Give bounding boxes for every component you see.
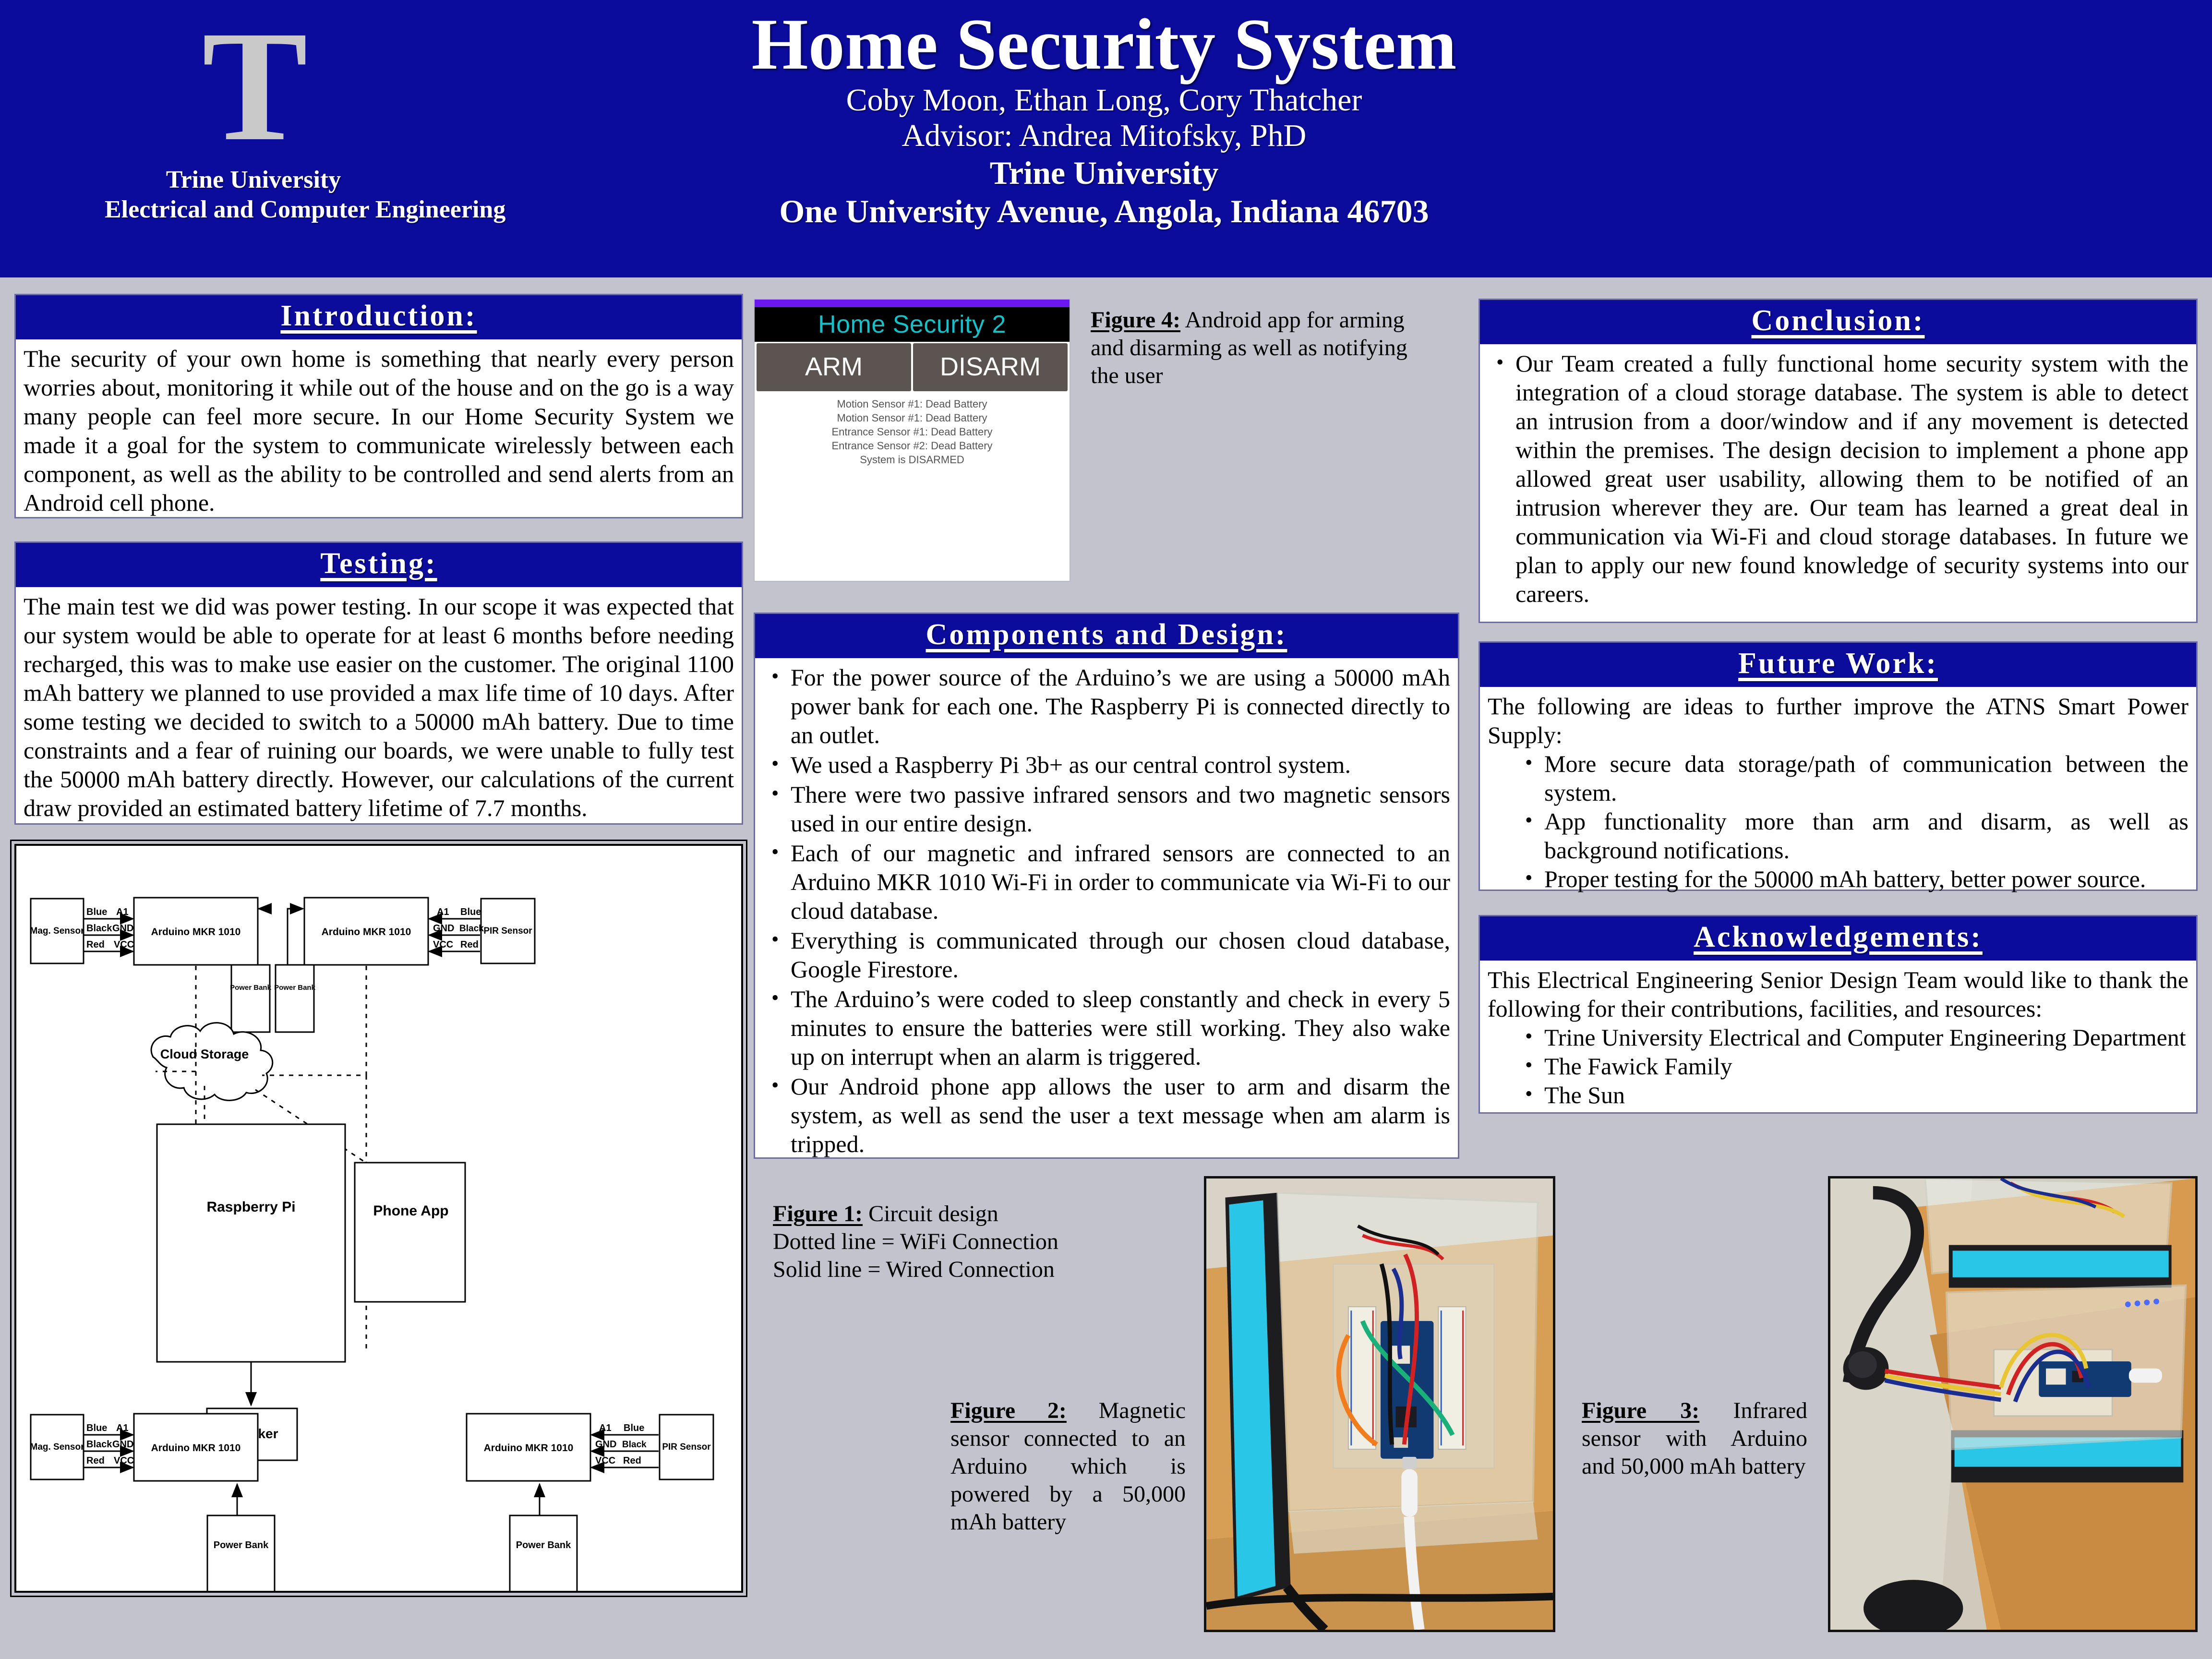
figure-3-caption: Figure 3: Infrared sensor with Arduino a… xyxy=(1582,1397,1807,1480)
advisor-line: Advisor: Andrea Mitofsky, PhD xyxy=(624,118,1584,154)
diagram-wire-blue-tl: Blue xyxy=(86,907,107,917)
figure-1-text: Circuit design xyxy=(863,1201,998,1226)
list-item: More secure data storage/path of communi… xyxy=(1544,749,2188,807)
university-line: Trine University xyxy=(624,154,1584,192)
diagram-label-arduino-tl: Arduino MKR 1010 xyxy=(151,926,241,938)
components-panel: Components and Design: For the power sou… xyxy=(754,613,1459,1159)
list-item: The Fawick Family xyxy=(1544,1052,2188,1081)
figure-1-caption: Figure 1: Circuit design Dotted line = W… xyxy=(773,1200,1109,1284)
diagram-pin-gnd-br: GND xyxy=(595,1439,616,1450)
figure-1-legend-solid: Solid line = Wired Connection xyxy=(773,1256,1109,1284)
address-line: One University Avenue, Angola, Indiana 4… xyxy=(624,192,1584,230)
introduction-panel: Introduction: The security of your own h… xyxy=(14,294,743,518)
components-heading: Components and Design: xyxy=(755,614,1458,658)
future-work-bullet-list: More secure data storage/path of communi… xyxy=(1488,749,2188,893)
diagram-label-mag-sensor-tl: Mag. Sensor xyxy=(30,926,85,936)
list-item: Proper testing for the 50000 mAh battery… xyxy=(1544,865,2188,893)
components-heading-text: Components and Design: xyxy=(926,618,1287,651)
figure-3-photo xyxy=(1828,1176,2198,1632)
conclusion-heading: Conclusion: xyxy=(1480,300,2196,344)
diagram-label-pir-sensor-tr: PIR Sensor xyxy=(483,926,532,936)
diagram-label-arduino-tr: Arduino MKR 1010 xyxy=(322,926,411,938)
conclusion-body: Our Team created a fully functional home… xyxy=(1480,344,2196,616)
testing-body: The main test we did was power testing. … xyxy=(16,587,742,829)
app-title-bar: Home Security 2 xyxy=(755,307,1070,342)
testing-heading: Testing: xyxy=(16,543,742,587)
diagram-label-power-bank-4: Power Bank xyxy=(516,1540,571,1551)
diagram-wire-red-tr: Red xyxy=(460,939,479,950)
testing-paragraph: The main test we did was power testing. … xyxy=(24,592,734,822)
list-item: The Sun xyxy=(1544,1081,2188,1109)
figure-3-label: Figure 3: xyxy=(1582,1398,1699,1423)
future-work-heading-text: Future Work: xyxy=(1738,647,1938,680)
page-title: Home Security System xyxy=(624,6,1584,83)
diagram-pin-vcc-br: VCC xyxy=(595,1455,615,1466)
status-line: Entrance Sensor #1: Dead Battery xyxy=(755,425,1070,439)
diagram-label-pir-sensor-br: PIR Sensor xyxy=(662,1442,711,1452)
list-item: Our Android phone app allows the user to… xyxy=(791,1072,1450,1158)
diagram-label-power-bank-1: Power Bank xyxy=(230,984,272,992)
figure-4-caption: Figure 4: Android app for arming and dis… xyxy=(1091,306,1407,390)
logo-department-name: Electrical and Computer Engineering xyxy=(105,195,402,225)
diagram-wire-red-tl: Red xyxy=(86,939,105,950)
logo-university-name: Trine University xyxy=(105,165,402,195)
figure-1-legend-dotted: Dotted line = WiFi Connection xyxy=(773,1228,1109,1256)
diagram-pin-gnd-tl: GND xyxy=(112,923,133,934)
future-work-body: The following are ideas to further impro… xyxy=(1480,687,2196,900)
diagram-pin-gnd-bl: GND xyxy=(112,1439,133,1450)
list-item: Trine University Electrical and Computer… xyxy=(1544,1023,2188,1052)
list-item: For the power source of the Arduino’s we… xyxy=(791,663,1450,749)
diagram-label-mag-sensor-bl: Mag. Sensor xyxy=(30,1442,85,1452)
list-item: The Arduino’s were coded to sleep consta… xyxy=(791,985,1450,1071)
app-button-row: ARM DISARM xyxy=(755,342,1070,391)
figure-2-photo-inner xyxy=(1206,1178,1553,1630)
future-work-intro: The following are ideas to further impro… xyxy=(1488,692,2188,749)
diagram-pin-a1-tl: A1 xyxy=(116,907,129,917)
acknowledgements-heading-text: Acknowledgements: xyxy=(1694,921,1983,953)
diagram-wire-red-br: Red xyxy=(623,1455,641,1466)
introduction-heading-text: Introduction: xyxy=(280,300,477,332)
figure-2-caption: Figure 2: Magnetic sensor connected to a… xyxy=(950,1397,1186,1536)
acknowledgements-intro: This Electrical Engineering Senior Desig… xyxy=(1488,965,2188,1023)
diagram-wire-blue-bl: Blue xyxy=(86,1423,107,1433)
diagram-label-raspberry-pi: Raspberry Pi xyxy=(206,1199,295,1215)
components-bullet-list: For the power source of the Arduino’s we… xyxy=(763,663,1450,1158)
university-logo-block: T Trine University Electrical and Comput… xyxy=(105,14,402,225)
future-work-panel: Future Work: The following are ideas to … xyxy=(1479,641,2198,891)
components-body: For the power source of the Arduino’s we… xyxy=(755,658,1458,1166)
status-line: System is DISARMED xyxy=(755,453,1070,467)
app-status-bar xyxy=(755,300,1070,307)
authors-line: Coby Moon, Ethan Long, Cory Thatcher xyxy=(624,83,1584,118)
diagram-pin-a1-tr: A1 xyxy=(437,907,449,917)
diagram-wire-blue-br: Blue xyxy=(624,1423,644,1433)
arm-button[interactable]: ARM xyxy=(757,343,911,391)
figure-2-label: Figure 2: xyxy=(950,1398,1067,1423)
testing-panel: Testing: The main test we did was power … xyxy=(14,541,743,825)
acknowledgements-heading: Acknowledgements: xyxy=(1480,916,2196,961)
diagram-wire-black-br: Black xyxy=(622,1440,647,1450)
list-item: Everything is communicated through our c… xyxy=(791,926,1450,984)
future-work-heading: Future Work: xyxy=(1480,643,2196,687)
diagram-wire-blue-tr: Blue xyxy=(460,907,481,917)
diagram-label-cloud-storage: Cloud Storage xyxy=(160,1047,249,1061)
list-item: Each of our magnetic and infrared sensor… xyxy=(791,839,1450,925)
diagram-label-power-bank-2: Power Bank xyxy=(274,984,316,992)
status-line: Entrance Sensor #2: Dead Battery xyxy=(755,439,1070,453)
figure-2-photo xyxy=(1204,1176,1555,1632)
acknowledgements-body: This Electrical Engineering Senior Desig… xyxy=(1480,961,2196,1116)
figure-2-photo-art xyxy=(1206,1178,1553,1630)
diagram-label-arduino-bl: Arduino MKR 1010 xyxy=(151,1443,241,1454)
circuit-diagram: Mag. Sensor Arduino MKR 1010 Blue A1 Bla… xyxy=(14,844,743,1593)
figure-4-label: Figure 4: xyxy=(1091,307,1180,333)
list-item: There were two passive infrared sensors … xyxy=(791,780,1450,838)
diagram-wire-black-bl: Black xyxy=(86,1439,112,1450)
diagram-pin-a1-br: A1 xyxy=(599,1423,612,1433)
disarm-button[interactable]: DISARM xyxy=(913,343,1068,391)
list-item: App functionality more than arm and disa… xyxy=(1544,807,2188,865)
diagram-wire-red-bl: Red xyxy=(86,1455,105,1466)
status-line: Motion Sensor #1: Dead Battery xyxy=(755,411,1070,425)
introduction-body: The security of your own home is somethi… xyxy=(16,339,742,524)
conclusion-panel: Conclusion: Our Team created a fully fun… xyxy=(1479,299,2198,623)
diagram-label-arduino-br: Arduino MKR 1010 xyxy=(484,1443,574,1454)
figure-3-photo-art xyxy=(1830,1178,2195,1630)
acknowledgements-bullet-list: Trine University Electrical and Computer… xyxy=(1488,1023,2188,1109)
figure-1-label: Figure 1: xyxy=(773,1201,863,1226)
poster-title-block: Home Security System Coby Moon, Ethan Lo… xyxy=(624,6,1584,230)
android-app-screenshot: Home Security 2 ARM DISARM Motion Sensor… xyxy=(754,299,1070,582)
acknowledgements-panel: Acknowledgements: This Electrical Engine… xyxy=(1479,915,2198,1114)
circuit-diagram-svg: Mag. Sensor Arduino MKR 1010 Blue A1 Bla… xyxy=(16,846,741,1591)
conclusion-heading-text: Conclusion: xyxy=(1752,304,1925,337)
status-line: Motion Sensor #1: Dead Battery xyxy=(755,397,1070,411)
poster-header: T Trine University Electrical and Comput… xyxy=(0,0,2212,277)
conclusion-bullet-list: Our Team created a fully functional home… xyxy=(1488,349,2188,608)
introduction-heading: Introduction: xyxy=(16,295,742,339)
diagram-wire-black-tr: Black xyxy=(459,924,484,934)
introduction-paragraph: The security of your own home is somethi… xyxy=(24,344,734,517)
list-item: Our Team created a fully functional home… xyxy=(1515,349,2188,608)
app-status-list: Motion Sensor #1: Dead Battery Motion Se… xyxy=(755,391,1070,467)
diagram-pin-a1-bl: A1 xyxy=(116,1423,129,1433)
diagram-pin-vcc-tl: VCC xyxy=(114,939,134,950)
trine-logo-icon: T xyxy=(181,14,325,158)
diagram-pin-gnd-tr: GND xyxy=(433,923,454,934)
testing-heading-text: Testing: xyxy=(320,547,437,580)
diagram-pin-vcc-tr: VCC xyxy=(433,939,453,950)
diagram-label-phone-app: Phone App xyxy=(373,1203,448,1219)
figure-3-photo-inner xyxy=(1830,1178,2195,1630)
diagram-pin-vcc-bl: VCC xyxy=(114,1455,134,1466)
diagram-label-power-bank-3: Power Bank xyxy=(214,1540,269,1551)
app-title-text: Home Security 2 xyxy=(818,310,1006,339)
diagram-wire-black-tl: Black xyxy=(86,923,112,934)
list-item: We used a Raspberry Pi 3b+ as our centra… xyxy=(791,750,1450,779)
